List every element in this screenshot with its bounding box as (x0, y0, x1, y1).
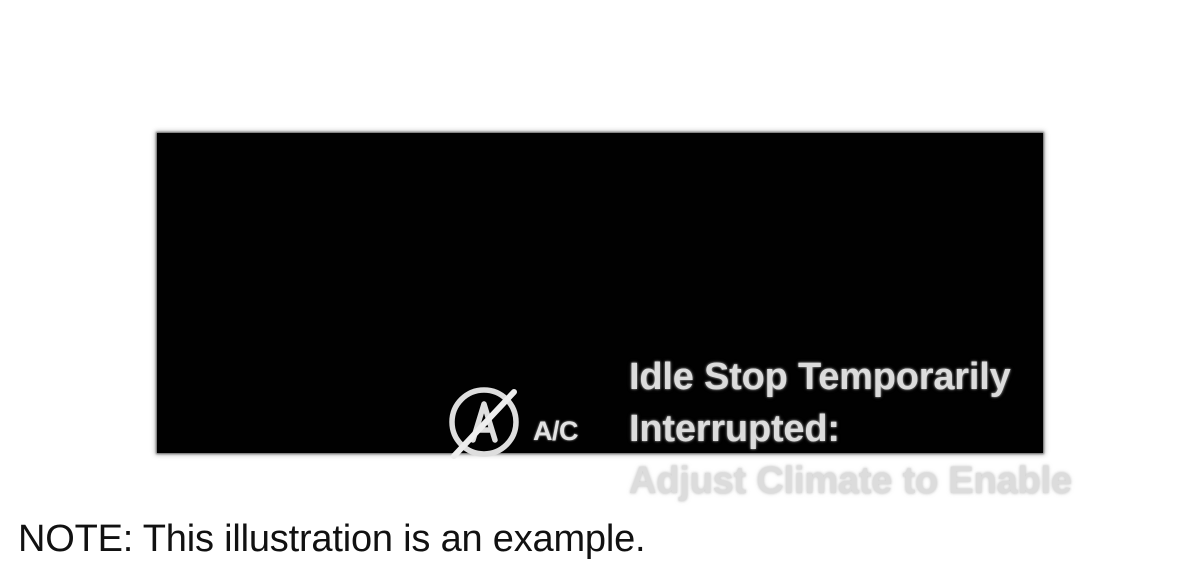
display-message: Idle Stop Temporarily Interrupted: Adjus… (629, 351, 1149, 507)
ac-disabled-indicator: A/C (440, 378, 600, 470)
message-line-2: Interrupted: (629, 403, 1149, 455)
ac-label: A/C (533, 418, 578, 445)
display-content: A/C Idle Stop Temporarily Interrupted: A… (157, 133, 1043, 453)
vehicle-display-panel: A/C Idle Stop Temporarily Interrupted: A… (157, 133, 1043, 453)
message-line-1: Idle Stop Temporarily (629, 351, 1149, 403)
illustration-note: NOTE: This illustration is an example. (18, 516, 645, 562)
message-line-3: Adjust Climate to Enable (629, 455, 1149, 507)
